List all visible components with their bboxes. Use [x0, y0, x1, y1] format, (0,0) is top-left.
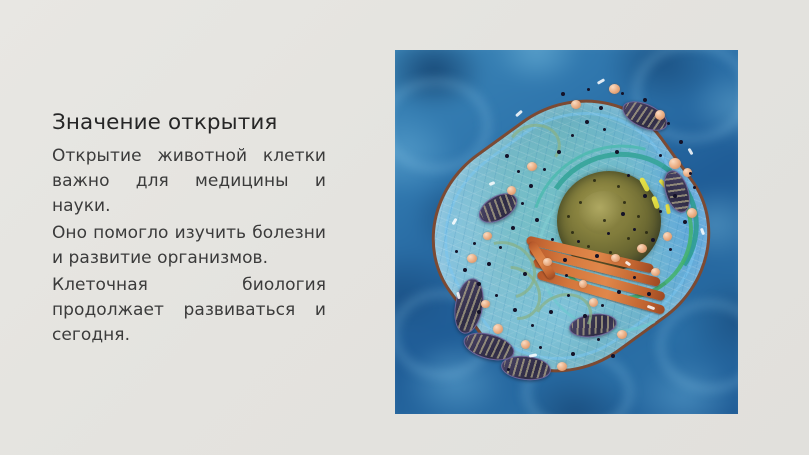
ribosome	[539, 346, 542, 349]
ribosome	[513, 308, 517, 312]
lysosome	[617, 330, 627, 339]
ribosome	[565, 274, 568, 277]
chromatin-speck	[623, 201, 626, 204]
ribosome	[617, 290, 621, 294]
ribosome	[571, 134, 574, 137]
presentation-slide: Значение открытия Открытие животной клет…	[0, 0, 809, 455]
chromatin-speck	[571, 231, 574, 234]
ribosome	[567, 294, 570, 297]
ribosome	[689, 172, 692, 175]
lysosome	[557, 362, 567, 371]
ribosome	[607, 232, 610, 235]
body-paragraph-3: Клеточная биология продолжает развиватьс…	[52, 273, 326, 348]
lysosome	[611, 254, 620, 262]
ribosome	[477, 282, 481, 286]
ribosome	[647, 292, 651, 296]
lysosome	[663, 232, 672, 241]
lysosome	[493, 324, 503, 334]
ribosome	[585, 120, 589, 124]
lysosome	[521, 340, 530, 349]
ribosome	[621, 92, 624, 95]
ribosome	[551, 238, 554, 241]
body-paragraph-1: Открытие животной клетки важно для медиц…	[52, 144, 326, 219]
ribosome	[683, 220, 687, 224]
lysosome	[481, 300, 490, 308]
specular-highlight	[687, 148, 693, 156]
ribosome	[587, 88, 590, 91]
ribosome	[679, 140, 683, 144]
ribosome	[633, 228, 636, 231]
ribosome	[583, 314, 587, 318]
chromatin-speck	[579, 201, 582, 204]
lysosome	[467, 254, 477, 263]
ribosome	[597, 338, 600, 341]
ribosome	[651, 238, 655, 242]
ribosome	[615, 150, 619, 154]
lysosome	[651, 268, 660, 276]
ribosome	[667, 122, 670, 125]
ribosome	[487, 262, 491, 266]
lysosome	[687, 208, 697, 218]
ribosome	[507, 368, 510, 371]
ribosome	[633, 276, 636, 279]
ribosome	[603, 128, 606, 131]
ribosome	[599, 106, 603, 110]
body-paragraph-2: Оно помогло изучить болезни и развитие о…	[52, 221, 326, 271]
ribosome	[693, 186, 696, 189]
lysosome	[507, 186, 516, 195]
lysosome	[527, 162, 537, 171]
ribosome	[473, 242, 476, 245]
ribosome	[659, 210, 662, 213]
ribosome	[543, 168, 546, 171]
ribosome	[477, 310, 481, 314]
chromatin-speck	[593, 179, 596, 182]
animal-cell-image	[395, 50, 738, 414]
ribosome	[643, 98, 647, 102]
text-content-block: Значение открытия Открытие животной клет…	[52, 110, 326, 348]
ribosome	[549, 310, 553, 314]
ribosome	[495, 294, 498, 297]
ribosome	[595, 254, 599, 258]
chromatin-speck	[603, 219, 606, 222]
ribosome	[455, 250, 458, 253]
lysosome	[589, 298, 598, 307]
ribosome	[601, 304, 604, 307]
ribosome	[669, 248, 672, 251]
lysosome	[571, 100, 581, 109]
ribosome	[627, 174, 630, 177]
ribosome	[611, 354, 615, 358]
ribosome	[505, 154, 509, 158]
ribosome	[571, 352, 575, 356]
ribosome	[529, 184, 533, 188]
chromatin-speck	[627, 237, 630, 240]
ribosome	[659, 154, 662, 157]
specular-highlight	[515, 110, 523, 118]
ribosome	[563, 258, 567, 262]
chromatin-speck	[645, 231, 648, 234]
lysosome	[655, 110, 665, 120]
ribosome	[531, 324, 534, 327]
ribosome	[511, 226, 515, 230]
lysosome	[579, 280, 587, 288]
lysosome	[543, 258, 552, 266]
chromatin-speck	[567, 215, 570, 218]
ribosome	[535, 218, 539, 222]
ribosome	[521, 202, 524, 205]
lysosome	[483, 232, 492, 240]
chromatin-speck	[617, 185, 620, 188]
cell-body	[411, 62, 723, 402]
ribosome	[557, 150, 561, 154]
ribosome	[643, 194, 647, 198]
ribosome	[561, 92, 565, 96]
chromatin-speck	[637, 215, 640, 218]
ribosome	[523, 272, 527, 276]
ribosome	[621, 212, 625, 216]
lysosome	[637, 244, 647, 253]
ribosome	[577, 240, 580, 243]
ribosome	[463, 268, 467, 272]
lysosome	[609, 84, 620, 94]
ribosome	[673, 194, 677, 198]
ribosome	[499, 246, 502, 249]
ribosome	[517, 170, 520, 173]
lysosome	[669, 158, 681, 169]
page-title: Значение открытия	[52, 110, 326, 136]
